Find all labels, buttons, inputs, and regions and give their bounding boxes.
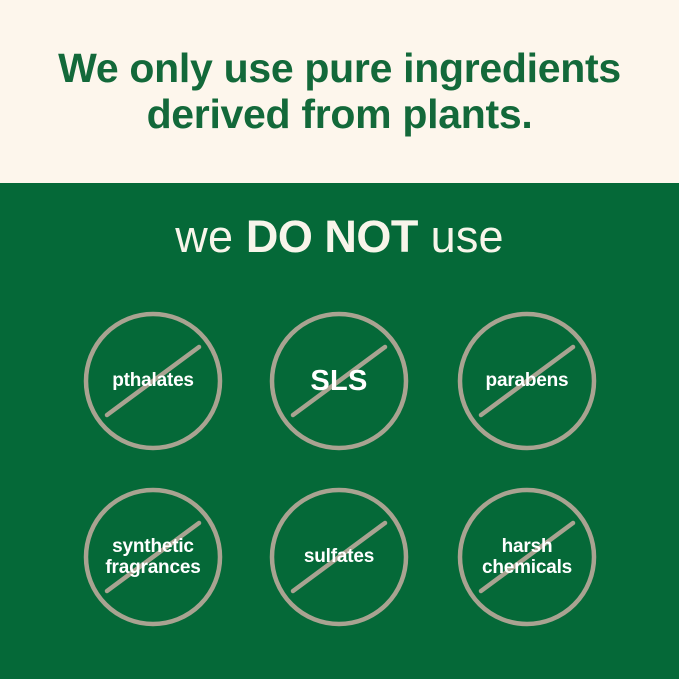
top-banner: We only use pure ingredients derived fro… — [0, 0, 679, 183]
badge-sls: SLS — [268, 310, 410, 452]
section-title-prefix: we — [175, 211, 246, 262]
badge-label: SLS — [260, 310, 418, 452]
badge-harsh-chemicals: harsh chemicals — [456, 486, 598, 628]
badge-label: pthalates — [74, 310, 232, 452]
badge-grid: pthalates SLS parabens — [0, 295, 679, 675]
badge-label: harsh chemicals — [448, 486, 606, 628]
badge-label: sulfates — [260, 486, 418, 628]
banner-headline: We only use pure ingredients derived fro… — [34, 46, 645, 138]
badge-parabens: parabens — [456, 310, 598, 452]
badge-sulfates: sulfates — [268, 486, 410, 628]
badge-synthetic-fragrances: synthetic fragrances — [82, 486, 224, 628]
section-title-suffix: use — [418, 211, 504, 262]
ingredient-claims-poster: We only use pure ingredients derived fro… — [0, 0, 679, 679]
section-title-emphasis: DO NOT — [246, 211, 418, 262]
section-title: we DO NOT use — [0, 214, 679, 259]
badge-pthalates: pthalates — [82, 310, 224, 452]
badge-label: synthetic fragrances — [74, 486, 232, 628]
do-not-use-section: we DO NOT use pthalates SLS — [0, 183, 679, 679]
badge-label: parabens — [448, 310, 606, 452]
